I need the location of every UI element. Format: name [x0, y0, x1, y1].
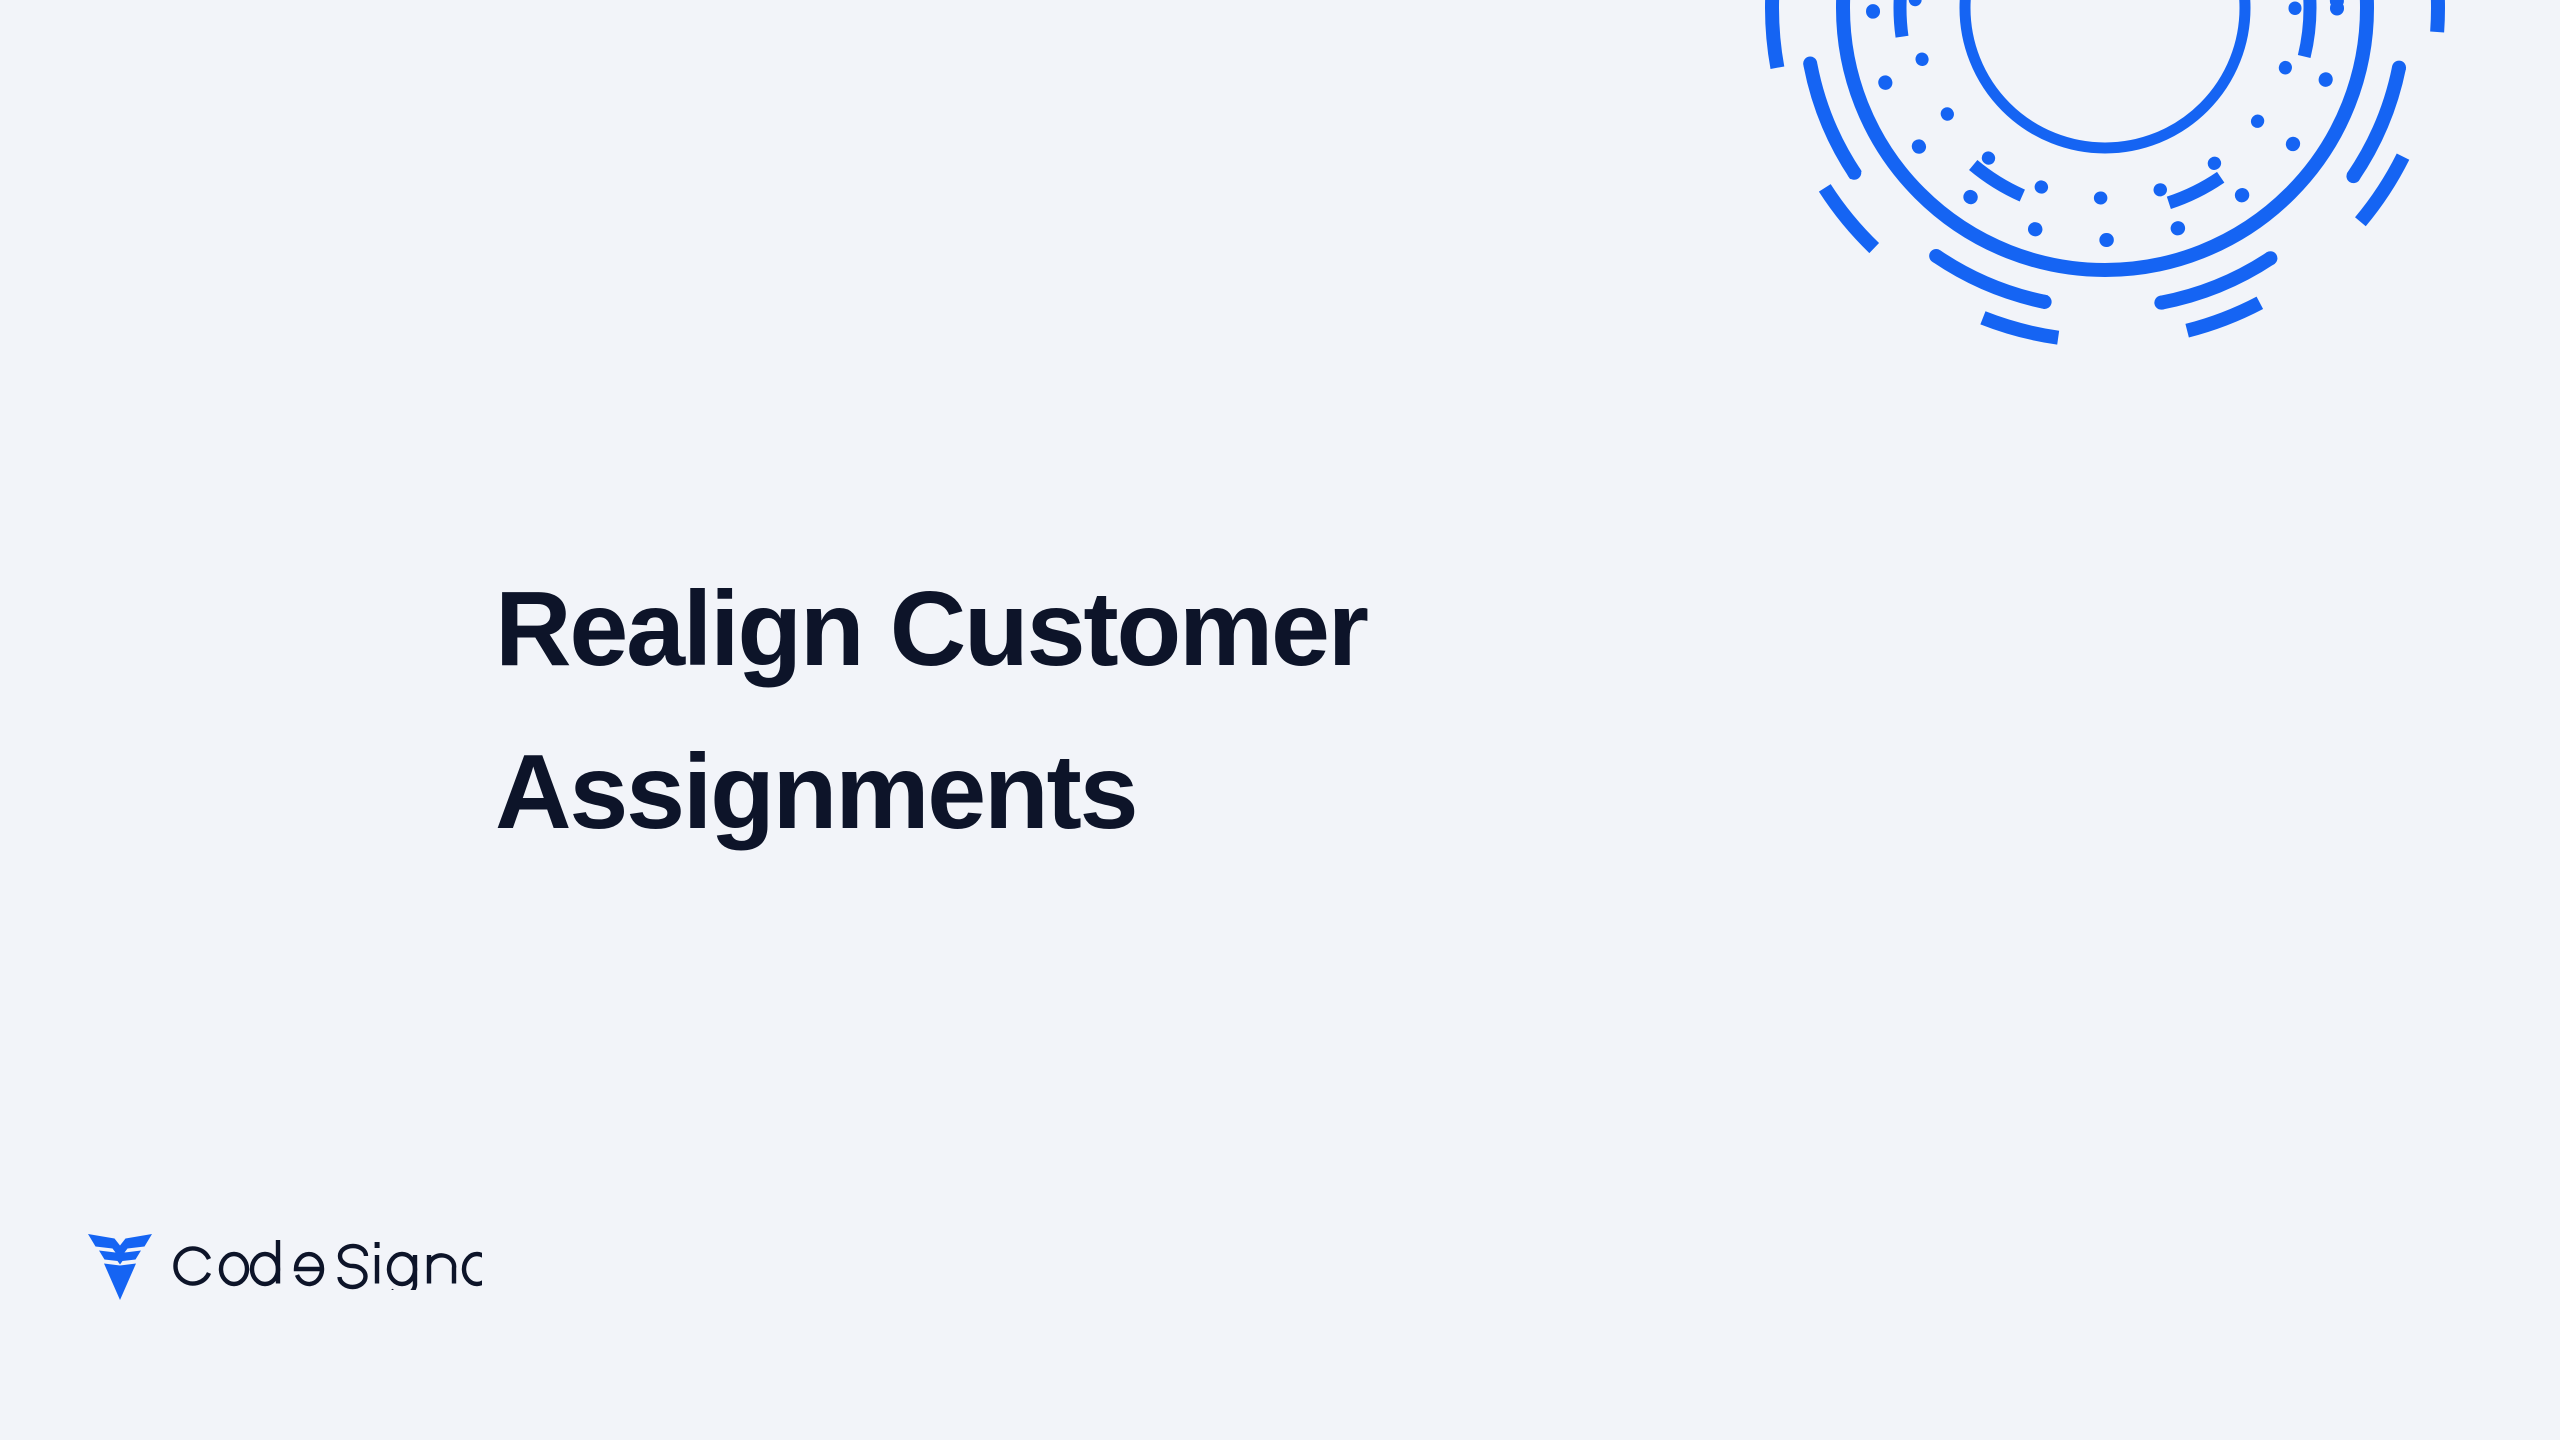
ring-dashed-short-2: [1772, 0, 2438, 341]
ring-dotted-3: [1805, 0, 2405, 308]
ring-dotted-1: [1915, 0, 2295, 198]
ring-dashed-long: [1805, 0, 2405, 308]
codesignal-chevron-mark-icon: [88, 1228, 152, 1300]
ring-dotted-2: [1873, 0, 2337, 240]
page-title: Realign Customer Assignments: [495, 548, 1695, 874]
brand-logo: [88, 1228, 482, 1300]
codesignal-wordmark: [170, 1238, 482, 1290]
ring-dashed-short-1: [1900, 0, 2310, 213]
wordmark-i-dot: [375, 1242, 380, 1248]
ring-solid-inner: [1965, 0, 2245, 148]
page-title-line-1: Realign Customer: [495, 548, 1695, 711]
ring-solid-outer: [1843, 0, 2367, 270]
slide-canvas: Realign Customer Assignments: [0, 0, 2560, 1440]
concentric-rings-svg: [1660, 0, 2560, 420]
page-title-line-2: Assignments: [495, 711, 1695, 874]
concentric-rings-graphic: [1660, 0, 2560, 420]
